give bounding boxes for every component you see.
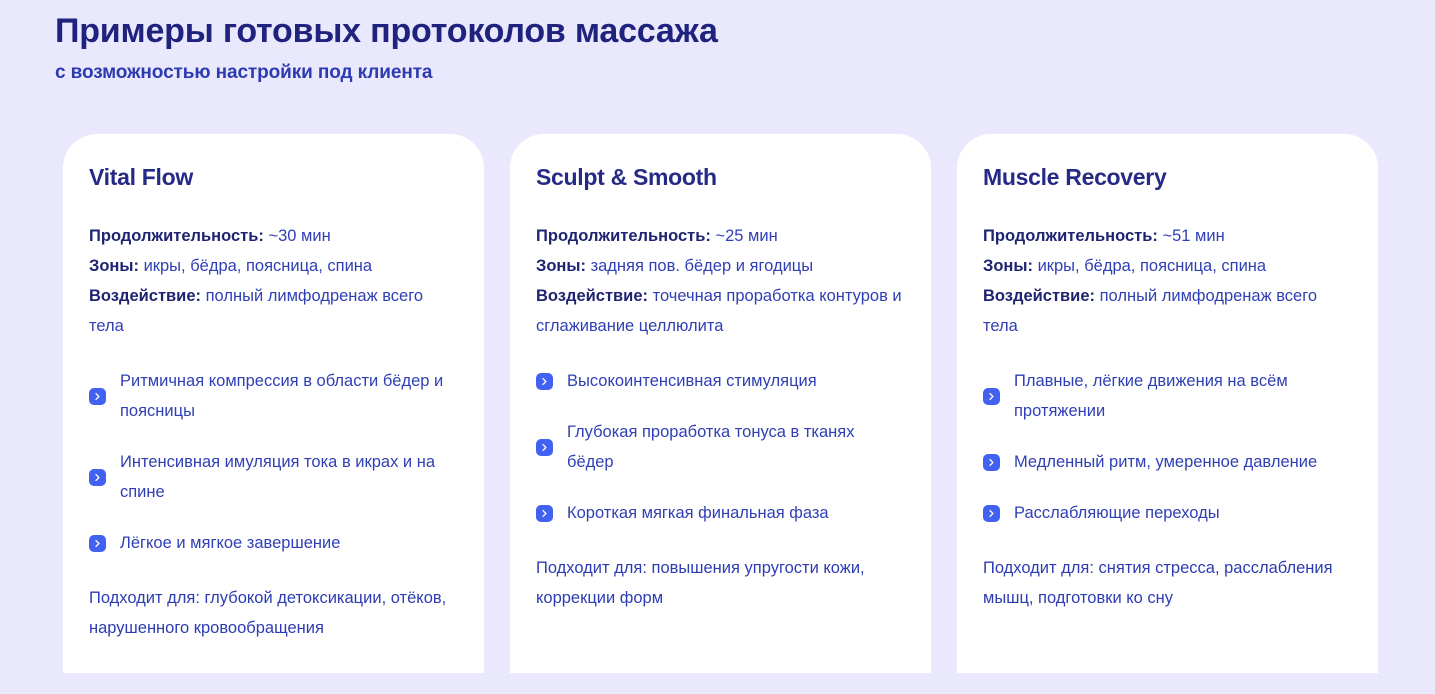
chevron-right-icon xyxy=(89,535,106,552)
protocol-meta-row: Зоны: икры, бёдра, поясница, спина xyxy=(983,251,1352,281)
chevron-right-icon xyxy=(89,388,106,405)
protocol-card[interactable]: Muscle Recovery Продолжительность: ~51 м… xyxy=(957,134,1378,673)
list-item: Интенсивная имуляция тока в икрах и на с… xyxy=(89,447,458,507)
protocol-meta: Продолжительность: ~25 мин Зоны: задняя … xyxy=(536,221,905,341)
protocol-meta-row: Воздействие: полный лимфодренаж всего те… xyxy=(89,281,458,341)
feature-text: Короткая мягкая финальная фаза xyxy=(567,498,829,528)
list-item: Высокоинтенсивная стимуляция xyxy=(536,366,905,396)
feature-text: Лёгкое и мягкое завершение xyxy=(120,528,340,558)
meta-value: икры, бёдра, поясница, спина xyxy=(1038,257,1267,275)
chevron-right-icon xyxy=(983,505,1000,522)
meta-label: Зоны: xyxy=(89,257,139,275)
meta-value: икры, бёдра, поясница, спина xyxy=(144,257,373,275)
chevron-right-icon xyxy=(536,373,553,390)
protocol-card[interactable]: Sculpt & Smooth Продолжительность: ~25 м… xyxy=(510,134,931,673)
meta-value: задняя пов. бёдер и ягодицы xyxy=(591,257,814,275)
list-item: Ритмичная компрессия в области бёдер и п… xyxy=(89,366,458,426)
feature-list: Высокоинтенсивная стимуляция Глубокая пр… xyxy=(536,366,905,528)
protocol-meta-row: Зоны: задняя пов. бёдер и ягодицы xyxy=(536,251,905,281)
meta-value: ~30 мин xyxy=(268,227,330,245)
suited-for-text: Подходит для: снятия стресса, расслаблен… xyxy=(983,553,1352,613)
chevron-right-icon xyxy=(983,388,1000,405)
protocol-meta-row: Воздействие: полный лимфодренаж всего те… xyxy=(983,281,1352,341)
meta-label: Воздействие: xyxy=(89,287,201,305)
list-item: Лёгкое и мягкое завершение xyxy=(89,528,458,558)
chevron-right-icon xyxy=(536,505,553,522)
feature-text: Расслабляющие переходы xyxy=(1014,498,1220,528)
feature-text: Медленный ритм, умеренное давление xyxy=(1014,447,1317,477)
protocol-card-title: Vital Flow xyxy=(89,162,458,192)
page-title: Примеры готовых протоколов массажа xyxy=(55,8,1435,54)
protocol-meta: Продолжительность: ~51 мин Зоны: икры, б… xyxy=(983,221,1352,341)
protocol-meta-row: Продолжительность: ~30 мин xyxy=(89,221,458,251)
meta-label: Продолжительность: xyxy=(536,227,711,245)
page-header: Примеры готовых протоколов массажа с воз… xyxy=(0,0,1435,86)
list-item: Плавные, лёгкие движения на всём протяже… xyxy=(983,366,1352,426)
meta-label: Зоны: xyxy=(983,257,1033,275)
meta-value: ~25 мин xyxy=(715,227,777,245)
list-item: Короткая мягкая финальная фаза xyxy=(536,498,905,528)
protocol-card-title: Muscle Recovery xyxy=(983,162,1352,192)
feature-text: Интенсивная имуляция тока в икрах и на с… xyxy=(120,447,458,507)
protocol-card-title: Sculpt & Smooth xyxy=(536,162,905,192)
chevron-right-icon xyxy=(89,469,106,486)
protocol-meta-row: Продолжительность: ~51 мин xyxy=(983,221,1352,251)
chevron-right-icon xyxy=(983,454,1000,471)
list-item: Глубокая проработка тонуса в тканях бёде… xyxy=(536,417,905,477)
feature-text: Глубокая проработка тонуса в тканях бёде… xyxy=(567,417,905,477)
list-item: Медленный ритм, умеренное давление xyxy=(983,447,1352,477)
suited-for-text: Подходит для: повышения упругости кожи, … xyxy=(536,553,905,613)
protocol-card[interactable]: Vital Flow Продолжительность: ~30 мин Зо… xyxy=(63,134,484,673)
feature-text: Плавные, лёгкие движения на всём протяже… xyxy=(1014,366,1352,426)
meta-value: ~51 мин xyxy=(1162,227,1224,245)
protocol-card-list: Vital Flow Продолжительность: ~30 мин Зо… xyxy=(63,134,1378,694)
feature-text: Ритмичная компрессия в области бёдер и п… xyxy=(120,366,458,426)
feature-list: Ритмичная компрессия в области бёдер и п… xyxy=(89,366,458,558)
meta-label: Продолжительность: xyxy=(89,227,264,245)
meta-label: Воздействие: xyxy=(983,287,1095,305)
suited-for-text: Подходит для: глубокой детоксикации, отё… xyxy=(89,583,458,643)
meta-label: Воздействие: xyxy=(536,287,648,305)
list-item: Расслабляющие переходы xyxy=(983,498,1352,528)
meta-label: Продолжительность: xyxy=(983,227,1158,245)
protocol-meta-row: Зоны: икры, бёдра, поясница, спина xyxy=(89,251,458,281)
feature-text: Высокоинтенсивная стимуляция xyxy=(567,366,817,396)
protocol-meta: Продолжительность: ~30 мин Зоны: икры, б… xyxy=(89,221,458,341)
feature-list: Плавные, лёгкие движения на всём протяже… xyxy=(983,366,1352,528)
protocol-meta-row: Продолжительность: ~25 мин xyxy=(536,221,905,251)
page-subtitle: с возможностью настройки под клиента xyxy=(55,60,1435,86)
chevron-right-icon xyxy=(536,439,553,456)
protocol-examples-page: Примеры готовых протоколов массажа с воз… xyxy=(0,0,1435,673)
protocol-meta-row: Воздействие: точечная проработка контуро… xyxy=(536,281,905,341)
meta-label: Зоны: xyxy=(536,257,586,275)
